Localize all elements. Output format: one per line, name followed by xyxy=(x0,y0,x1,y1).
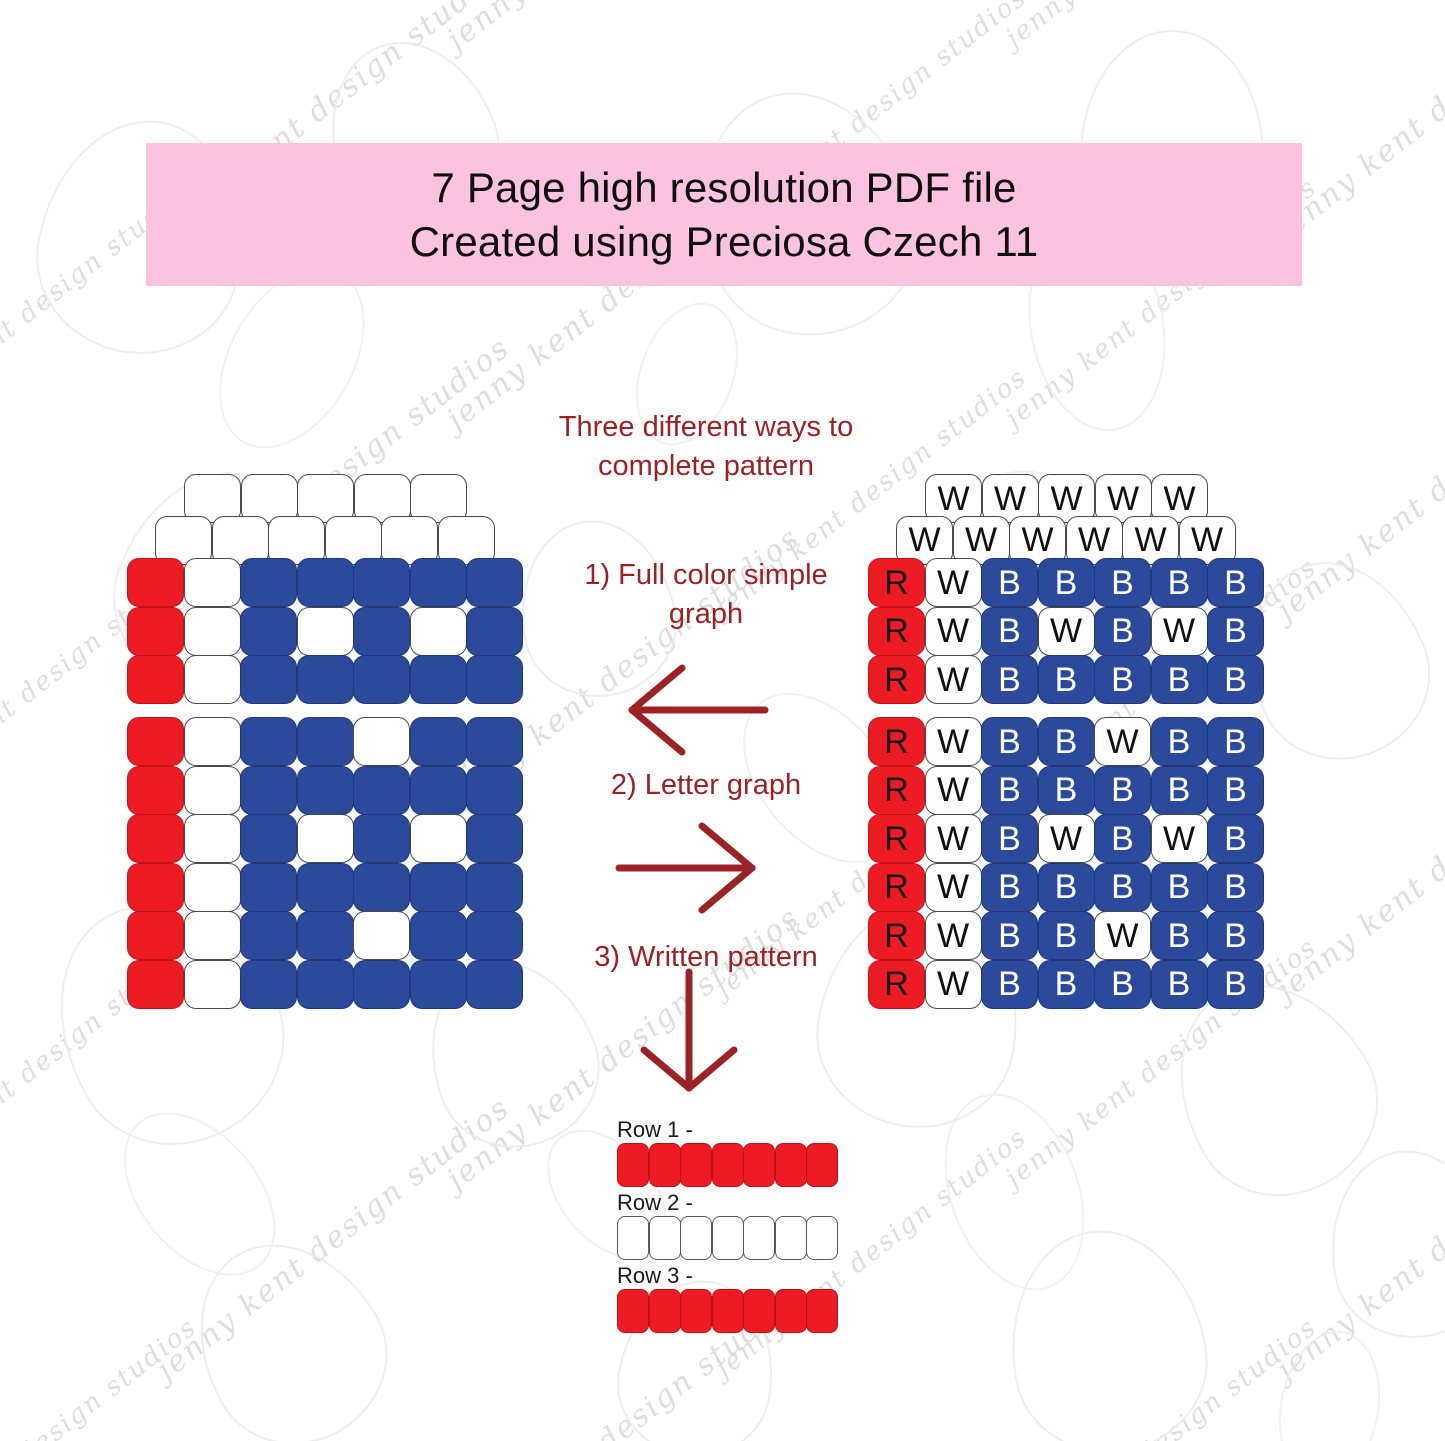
bead-white xyxy=(297,814,354,863)
bead-white xyxy=(410,607,467,656)
bead-red: R xyxy=(868,607,925,656)
bead-blue xyxy=(410,863,467,912)
bead-white xyxy=(184,814,241,863)
bead-blue xyxy=(410,717,467,766)
bead-red xyxy=(127,911,184,960)
header-banner: 7 Page high resolution PDF file Created … xyxy=(146,143,1302,286)
bead-red: R xyxy=(868,558,925,607)
bead-blue xyxy=(410,911,467,960)
bead-blue xyxy=(353,558,410,607)
bead-blue: B xyxy=(981,558,1038,607)
bead-blue: B xyxy=(1151,960,1208,1009)
bead-red: R xyxy=(868,814,925,863)
bead-red xyxy=(127,607,184,656)
bead-blue xyxy=(353,607,410,656)
bead-red xyxy=(617,1289,649,1333)
bead-blue: B xyxy=(981,911,1038,960)
bead-blue xyxy=(410,558,467,607)
bead-blue: B xyxy=(1094,960,1151,1009)
bead-blue xyxy=(466,863,523,912)
bead-white xyxy=(184,911,241,960)
bead-white xyxy=(184,863,241,912)
full-color-graph xyxy=(127,474,533,894)
bead-white: W xyxy=(1151,607,1208,656)
arrow-left-icon xyxy=(610,660,770,760)
arrow-right-icon xyxy=(614,818,774,918)
bead-white xyxy=(410,814,467,863)
bead-red xyxy=(680,1289,712,1333)
bead-white: W xyxy=(925,717,982,766)
bead-white: W xyxy=(1094,717,1151,766)
bead-white: W xyxy=(925,558,982,607)
bead-blue xyxy=(240,558,297,607)
bead-blue: B xyxy=(1151,655,1208,704)
written-row-label: Row 1 - xyxy=(617,1117,693,1143)
bead-blue xyxy=(240,911,297,960)
bead-white xyxy=(712,1216,744,1260)
bead-blue: B xyxy=(1207,814,1264,863)
arrow-down-icon xyxy=(634,968,744,1096)
bead-blue: B xyxy=(1094,607,1151,656)
bead-blue xyxy=(297,766,354,815)
bead-white xyxy=(806,1216,838,1260)
bead-blue xyxy=(240,607,297,656)
bead-blue xyxy=(297,863,354,912)
bead-white xyxy=(184,558,241,607)
bead-blue: B xyxy=(1207,607,1264,656)
bead-blue xyxy=(466,766,523,815)
bead-blue xyxy=(240,717,297,766)
bead-blue: B xyxy=(1151,717,1208,766)
bead-red xyxy=(649,1143,681,1187)
bead-red xyxy=(712,1289,744,1333)
bead-white: W xyxy=(1151,814,1208,863)
bead-white xyxy=(680,1216,712,1260)
bead-red: R xyxy=(868,863,925,912)
bead-blue xyxy=(240,863,297,912)
bead-blue: B xyxy=(1094,655,1151,704)
bead-white xyxy=(649,1216,681,1260)
banner-line-1: 7 Page high resolution PDF file xyxy=(431,161,1016,215)
written-row-label: Row 3 - xyxy=(617,1263,693,1289)
bead-blue xyxy=(353,960,410,1009)
bead-blue xyxy=(353,863,410,912)
bead-red xyxy=(680,1143,712,1187)
bead-red xyxy=(617,1143,649,1187)
bead-white xyxy=(743,1216,775,1260)
bead-blue xyxy=(410,766,467,815)
bead-blue: B xyxy=(1038,863,1095,912)
bead-blue xyxy=(297,717,354,766)
bead-blue: B xyxy=(1151,766,1208,815)
bead-red xyxy=(649,1289,681,1333)
bead-red xyxy=(127,717,184,766)
bead-white xyxy=(353,717,410,766)
written-pattern: Row 1 -Row 2 -Row 3 - xyxy=(617,1117,917,1337)
bead-red: R xyxy=(868,655,925,704)
written-row-beads xyxy=(617,1289,842,1333)
bead-white: W xyxy=(925,814,982,863)
bead-white: W xyxy=(1038,814,1095,863)
bead-blue xyxy=(466,607,523,656)
banner-line-2: Created using Preciosa Czech 11 xyxy=(410,215,1039,269)
bead-red xyxy=(127,558,184,607)
bead-red: R xyxy=(868,766,925,815)
bead-blue: B xyxy=(1207,911,1264,960)
bead-red xyxy=(712,1143,744,1187)
center-heading: Three different ways to complete pattern xyxy=(556,408,856,485)
bead-blue: B xyxy=(981,766,1038,815)
bead-blue: B xyxy=(1151,863,1208,912)
bead-blue xyxy=(240,960,297,1009)
bead-blue xyxy=(353,766,410,815)
bead-blue: B xyxy=(1207,558,1264,607)
center-item-2: 2) Letter graph xyxy=(556,766,856,805)
bead-blue: B xyxy=(981,717,1038,766)
written-row-beads xyxy=(617,1143,842,1187)
bead-blue: B xyxy=(1151,911,1208,960)
bead-blue: B xyxy=(1094,766,1151,815)
bead-red: R xyxy=(868,717,925,766)
bead-white xyxy=(184,717,241,766)
bead-blue xyxy=(297,558,354,607)
center-item-1: 1) Full color simple graph xyxy=(548,556,864,633)
bead-blue xyxy=(410,960,467,1009)
bead-white: W xyxy=(925,863,982,912)
bead-blue xyxy=(297,960,354,1009)
bead-blue xyxy=(466,814,523,863)
bead-blue: B xyxy=(981,814,1038,863)
bead-blue: B xyxy=(981,863,1038,912)
bead-blue xyxy=(297,655,354,704)
bead-white xyxy=(184,607,241,656)
written-row-beads xyxy=(617,1216,842,1260)
bead-blue xyxy=(466,717,523,766)
bead-white xyxy=(184,655,241,704)
bead-blue: B xyxy=(1094,814,1151,863)
bead-blue: B xyxy=(1207,766,1264,815)
bead-white xyxy=(184,960,241,1009)
bead-blue: B xyxy=(1038,558,1095,607)
bead-red xyxy=(743,1289,775,1333)
bead-red xyxy=(127,655,184,704)
bead-white: W xyxy=(925,607,982,656)
bead-white: W xyxy=(925,960,982,1009)
bead-white xyxy=(184,766,241,815)
bead-red xyxy=(743,1143,775,1187)
bead-white: W xyxy=(925,655,982,704)
bead-blue xyxy=(240,655,297,704)
bead-blue xyxy=(240,766,297,815)
bead-white: W xyxy=(925,911,982,960)
bead-red xyxy=(127,814,184,863)
bead-blue: B xyxy=(981,655,1038,704)
bead-blue: B xyxy=(1207,655,1264,704)
bead-blue xyxy=(466,960,523,1009)
bead-blue: B xyxy=(1094,558,1151,607)
bead-red xyxy=(775,1143,807,1187)
bead-red xyxy=(806,1289,838,1333)
bead-red: R xyxy=(868,960,925,1009)
bead-blue xyxy=(297,911,354,960)
bead-red: R xyxy=(868,911,925,960)
bead-red xyxy=(127,960,184,1009)
written-row-label: Row 2 - xyxy=(617,1190,693,1216)
bead-white xyxy=(617,1216,649,1260)
bead-red xyxy=(775,1289,807,1333)
bead-blue xyxy=(353,814,410,863)
bead-white xyxy=(353,911,410,960)
bead-blue: B xyxy=(1038,960,1095,1009)
bead-white: W xyxy=(1038,607,1095,656)
bead-red xyxy=(127,766,184,815)
bead-blue: B xyxy=(981,607,1038,656)
bead-blue: B xyxy=(981,960,1038,1009)
bead-blue: B xyxy=(1038,911,1095,960)
bead-blue: B xyxy=(1207,960,1264,1009)
bead-blue: B xyxy=(1207,717,1264,766)
bead-blue xyxy=(410,655,467,704)
bead-red xyxy=(127,863,184,912)
bead-white: W xyxy=(1094,911,1151,960)
bead-blue xyxy=(466,655,523,704)
bead-blue xyxy=(466,911,523,960)
bead-red xyxy=(806,1143,838,1187)
bead-blue: B xyxy=(1038,717,1095,766)
bead-white: W xyxy=(925,766,982,815)
bead-blue: B xyxy=(1207,863,1264,912)
bead-blue: B xyxy=(1094,863,1151,912)
bead-blue xyxy=(240,814,297,863)
bead-blue: B xyxy=(1038,655,1095,704)
bead-blue xyxy=(466,558,523,607)
letter-graph: WWWWWWWWWWWRWBBBBBRWBWBWBRWBBBBBRWBBWBBR… xyxy=(868,474,1274,894)
bead-blue: B xyxy=(1151,558,1208,607)
bead-blue xyxy=(353,655,410,704)
bead-white xyxy=(775,1216,807,1260)
bead-white xyxy=(297,607,354,656)
bead-blue: B xyxy=(1038,766,1095,815)
